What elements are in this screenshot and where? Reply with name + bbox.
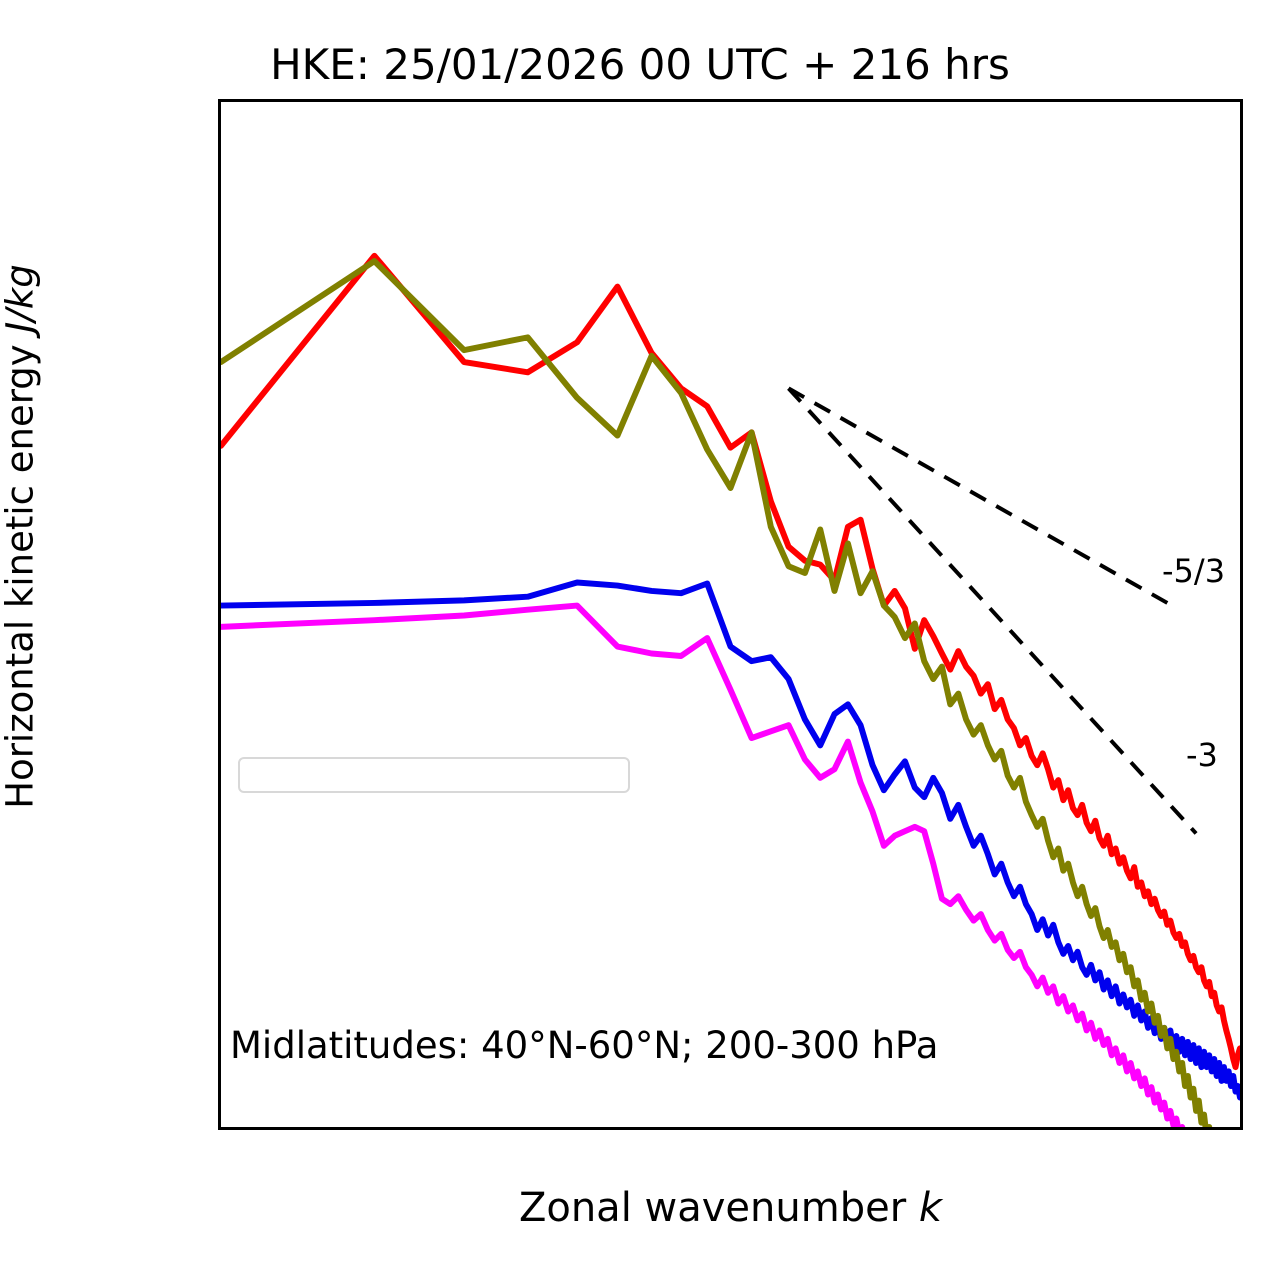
slope-label-minus-three: -3	[1186, 736, 1218, 774]
spectrum-plot	[221, 102, 1240, 1127]
y-axis-label: Horizontal kinetic energy J/kg	[0, 187, 42, 887]
region-annotation: Midlatitudes: 40°N-60°N; 200-300 hPa	[230, 1024, 938, 1067]
spectrum-series-group	[221, 256, 1240, 1127]
slope-line-53	[789, 388, 1168, 603]
slope-line-3	[789, 388, 1197, 833]
series-line-ifs-rossby	[221, 256, 1240, 1067]
slope-reference-lines	[789, 388, 1197, 833]
x-axis-label-text: Zonal wavenumber	[519, 1185, 919, 1231]
y-axis-label-unit: J/kg	[0, 264, 42, 332]
series-line-ifs-ig	[221, 582, 1240, 1097]
x-axis-label-symbol: k	[919, 1185, 942, 1231]
plot-area	[218, 99, 1243, 1130]
y-axis-label-text: Horizontal kinetic energy	[0, 333, 42, 809]
chart-legend[interactable]	[238, 757, 630, 793]
chart-title: HKE: 25/01/2026 00 UTC + 216 hrs	[0, 40, 1280, 89]
chart-figure: HKE: 25/01/2026 00 UTC + 216 hrs Horizon…	[0, 0, 1280, 1288]
slope-label-five-thirds: -5/3	[1162, 552, 1225, 590]
x-axis-label: Zonal wavenumber k	[218, 1185, 1243, 1231]
